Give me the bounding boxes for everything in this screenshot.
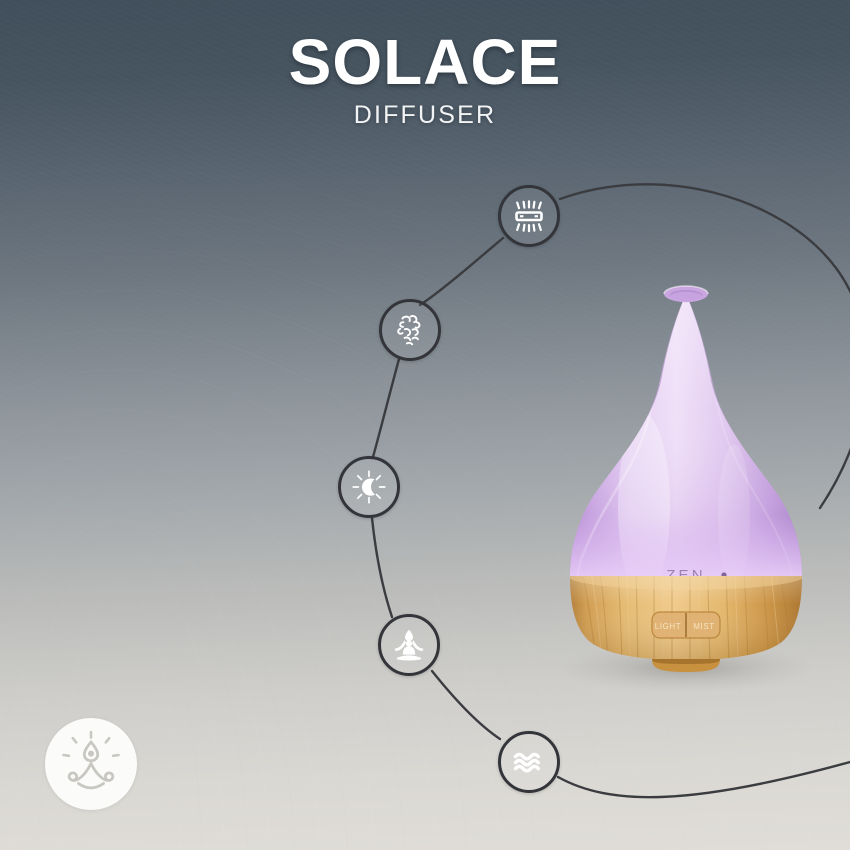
feature-icon-circle-misting[interactable] [379,299,441,361]
product-control-buttons: LIGHT MIST [652,612,720,638]
feature-icon-circle-night-light[interactable] [338,456,400,518]
feature-icon-circle-relaxation[interactable] [378,614,440,676]
header: SOLACE DIFFUSER [0,30,850,128]
page-subtitle: DIFFUSER [0,103,850,128]
solace-diffuser-product-image: ZEN [548,276,824,692]
infographic-canvas: SOLACE DIFFUSER Color Changing LED Light… [0,0,850,850]
yoga-meditation-icon [390,626,428,664]
brand-logo-badge [45,718,137,810]
moon-sun-icon [349,467,389,507]
product-light-button: LIGHT [655,622,682,631]
feature-icon-circle-air-quality[interactable] [498,731,560,793]
air-waves-icon [509,742,549,782]
mist-swirl-icon [390,310,430,350]
product-mist-button: MIST [693,622,715,631]
zen-brand-emblem-icon [54,725,128,804]
page-title: SOLACE [0,30,850,94]
feature-icon-circle-led[interactable] [498,185,560,247]
led-light-icon [510,197,548,235]
